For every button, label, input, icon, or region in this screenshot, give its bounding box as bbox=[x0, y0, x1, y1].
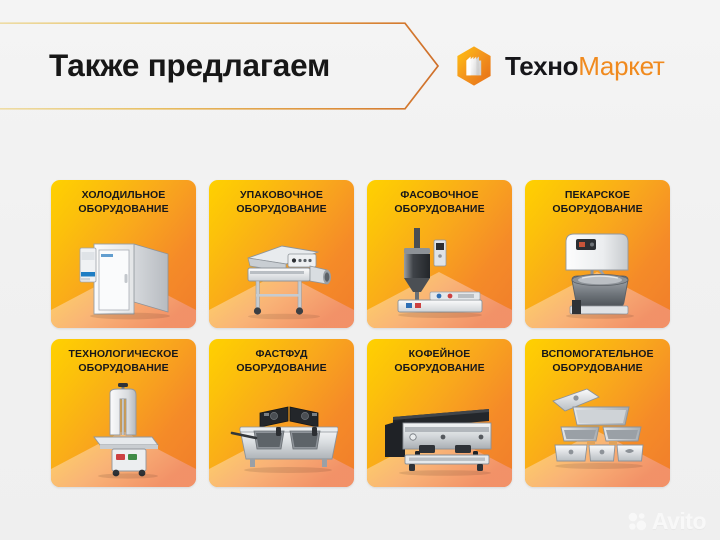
filling-dosing-machine-icon bbox=[367, 220, 512, 326]
category-card-label: ВСПОМОГАТЕЛЬНОЕ ОБОРУДОВАНИЕ bbox=[525, 348, 670, 375]
category-card-label: ХОЛОДИЛЬНОЕ ОБОРУДОВАНИЕ bbox=[51, 189, 196, 216]
category-label-line1: ФАСТФУД bbox=[214, 348, 349, 362]
category-label-line2: ОБОРУДОВАНИЕ bbox=[214, 362, 349, 376]
spiral-dough-mixer-icon bbox=[525, 220, 670, 326]
brand-lockup[interactable]: ТехноМаркет bbox=[452, 44, 665, 88]
category-card-label: ПЕКАРСКОЕ ОБОРУДОВАНИЕ bbox=[525, 189, 670, 216]
promo-banner: Также предлагаем bbox=[0, 0, 720, 540]
gastronorm-trays-icon bbox=[525, 379, 670, 485]
category-card-technological[interactable]: ТЕХНОЛОГИЧЕСКОЕ ОБОРУДОВАНИЕ bbox=[51, 339, 196, 487]
category-card-bakery[interactable]: ПЕКАРСКОЕ ОБОРУДОВАНИЕ bbox=[525, 180, 670, 328]
category-card-label: ФАСТФУД ОБОРУДОВАНИЕ bbox=[209, 348, 354, 375]
category-card-label: УПАКОВОЧНОЕ ОБОРУДОВАНИЕ bbox=[209, 189, 354, 216]
avito-circles-icon bbox=[627, 511, 648, 532]
espresso-coffee-machine-icon bbox=[367, 379, 512, 485]
brand-name-primary: Техно bbox=[505, 51, 578, 81]
category-label-line2: ОБОРУДОВАНИЕ bbox=[372, 203, 507, 217]
avito-wordmark: Avito bbox=[652, 510, 706, 533]
double-deep-fryer-icon bbox=[209, 379, 354, 485]
category-card-fastfood[interactable]: ФАСТФУД ОБОРУДОВАНИЕ bbox=[209, 339, 354, 487]
category-label-line1: ХОЛОДИЛЬНОЕ bbox=[56, 189, 191, 203]
banner-header: Также предлагаем bbox=[0, 22, 720, 110]
category-card-label: КОФЕЙНОЕ ОБОРУДОВАНИЕ bbox=[367, 348, 512, 375]
category-card-label: ФАСОВОЧНОЕ ОБОРУДОВАНИЕ bbox=[367, 189, 512, 216]
category-label-line1: ПЕКАРСКОЕ bbox=[530, 189, 665, 203]
category-label-line1: ФАСОВОЧНОЕ bbox=[372, 189, 507, 203]
category-card-refrigeration[interactable]: ХОЛОДИЛЬНОЕ ОБОРУДОВАНИЕ bbox=[51, 180, 196, 328]
brand-name-accent: Маркет bbox=[578, 51, 664, 81]
category-label-line2: ОБОРУДОВАНИЕ bbox=[530, 203, 665, 217]
category-label-line2: ОБОРУДОВАНИЕ bbox=[530, 362, 665, 376]
category-card-packaging[interactable]: УПАКОВОЧНОЕ ОБОРУДОВАНИЕ bbox=[209, 180, 354, 328]
cold-room-chamber-icon bbox=[51, 220, 196, 326]
category-label-line2: ОБОРУДОВАНИЕ bbox=[56, 203, 191, 217]
shrink-wrap-packing-machine-icon bbox=[209, 220, 354, 326]
category-card-filling[interactable]: ФАСОВОЧНОЕ ОБОРУДОВАНИЕ bbox=[367, 180, 512, 328]
category-label-line1: ВСПОМОГАТЕЛЬНОЕ bbox=[530, 348, 665, 362]
category-label-line1: УПАКОВОЧНОЕ bbox=[214, 189, 349, 203]
category-label-line1: КОФЕЙНОЕ bbox=[372, 348, 507, 362]
band-saw-icon bbox=[51, 379, 196, 485]
category-card-coffee[interactable]: КОФЕЙНОЕ ОБОРУДОВАНИЕ bbox=[367, 339, 512, 487]
category-label-line2: ОБОРУДОВАНИЕ bbox=[372, 362, 507, 376]
category-grid: ХОЛОДИЛЬНОЕ ОБОРУДОВАНИЕ bbox=[51, 180, 670, 487]
avito-watermark: Avito bbox=[627, 510, 706, 533]
header-title: Также предлагаем bbox=[49, 47, 330, 84]
category-card-auxiliary[interactable]: ВСПОМОГАТЕЛЬНОЕ ОБОРУДОВАНИЕ bbox=[525, 339, 670, 487]
category-label-line2: ОБОРУДОВАНИЕ bbox=[214, 203, 349, 217]
hexagon-building-logo-icon bbox=[452, 44, 496, 88]
category-card-label: ТЕХНОЛОГИЧЕСКОЕ ОБОРУДОВАНИЕ bbox=[51, 348, 196, 375]
brand-name: ТехноМаркет bbox=[505, 53, 665, 79]
category-label-line2: ОБОРУДОВАНИЕ bbox=[56, 362, 191, 376]
category-label-line1: ТЕХНОЛОГИЧЕСКОЕ bbox=[56, 348, 191, 362]
